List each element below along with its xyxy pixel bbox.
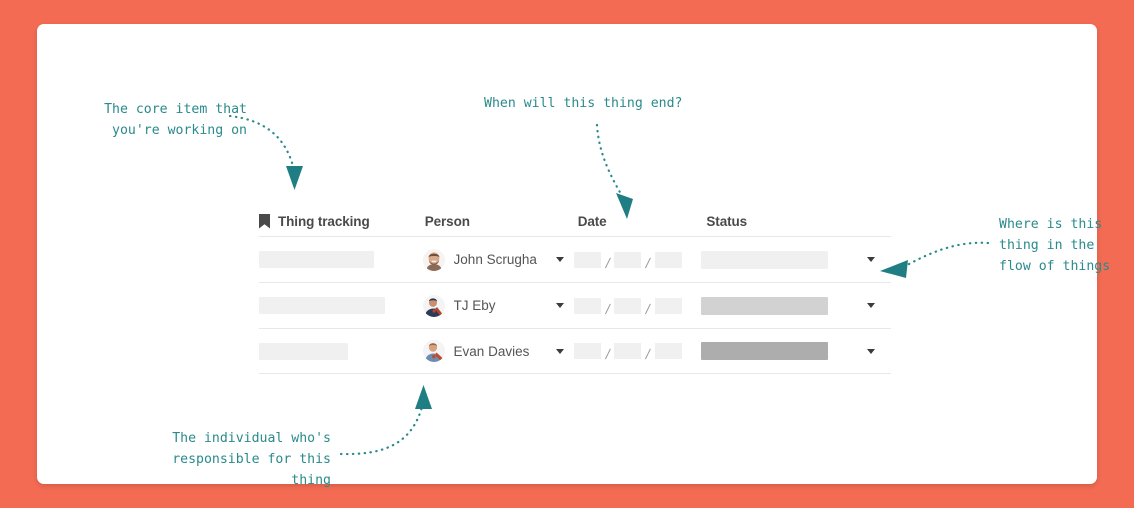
cell-status[interactable] [701,297,867,315]
cell-thing[interactable] [259,297,423,314]
chevron-down-icon[interactable] [867,257,875,262]
column-header-status[interactable]: Status [706,214,875,229]
arrow-person [335,359,455,469]
date-separator: / [645,346,652,362]
date-separator: / [604,346,611,362]
date-month-input[interactable] [574,252,601,268]
chevron-down-icon[interactable] [556,303,564,308]
cell-thing[interactable] [259,251,423,268]
date-separator: / [645,301,652,317]
chevron-down-icon[interactable] [556,257,564,262]
date-day-input[interactable] [614,343,641,359]
chevron-down-icon[interactable] [867,349,875,354]
date-month-input[interactable] [574,298,601,314]
date-day-input[interactable] [614,298,641,314]
column-header-thing[interactable]: Thing tracking [259,214,425,229]
chevron-down-icon[interactable] [556,349,564,354]
chevron-down-icon[interactable] [867,303,875,308]
thing-placeholder-bar [259,251,374,268]
date-day-input[interactable] [614,252,641,268]
thing-tracking-table: Thing tracking Person Date Status [259,210,891,374]
table-header-row: Thing tracking Person Date Status [259,210,891,236]
column-header-person[interactable]: Person [425,214,578,229]
cell-person[interactable]: TJ Eby [423,295,574,317]
date-year-input[interactable] [655,298,682,314]
annotation-person: The individual who's responsible for thi… [119,428,331,491]
cell-person[interactable]: Evan Davies [423,340,574,362]
date-separator: / [604,255,611,271]
thing-placeholder-bar [259,343,348,360]
status-badge [701,251,828,269]
date-month-input[interactable] [574,343,601,359]
annotation-core-item: The core item that you're working on [79,99,247,141]
cell-row-menu[interactable] [867,349,891,354]
avatar-tj [423,295,445,317]
person-name: John Scrugha [454,252,537,267]
status-badge [701,342,828,360]
annotation-status: Where is this thing in the flow of thing… [999,214,1110,277]
avatar-evan [423,340,445,362]
column-header-thing-label: Thing tracking [278,214,370,229]
table-row: TJ Eby / / [259,282,891,328]
status-badge [701,297,828,315]
cell-date[interactable]: / / [574,252,701,268]
avatar-john [423,249,445,271]
bookmark-icon [259,214,270,229]
annotation-date: When will this thing end? [484,93,683,114]
person-name: TJ Eby [454,298,496,313]
cell-row-menu[interactable] [867,257,891,262]
cell-date[interactable]: / / [574,343,701,359]
date-year-input[interactable] [655,343,682,359]
column-header-date[interactable]: Date [578,214,707,229]
thing-placeholder-bar [259,297,385,314]
cell-person[interactable]: John Scrugha [423,249,574,271]
cell-status[interactable] [701,342,867,360]
table-row: Evan Davies / / [259,328,891,374]
cell-status[interactable] [701,251,867,269]
cell-date[interactable]: / / [574,298,701,314]
cell-thing[interactable] [259,343,423,360]
content-card: The core item that you're working on Whe… [37,24,1097,484]
cell-row-menu[interactable] [867,303,891,308]
date-separator: / [604,301,611,317]
person-name: Evan Davies [454,344,530,359]
date-separator: / [645,255,652,271]
table-row: John Scrugha / / [259,236,891,282]
date-year-input[interactable] [655,252,682,268]
